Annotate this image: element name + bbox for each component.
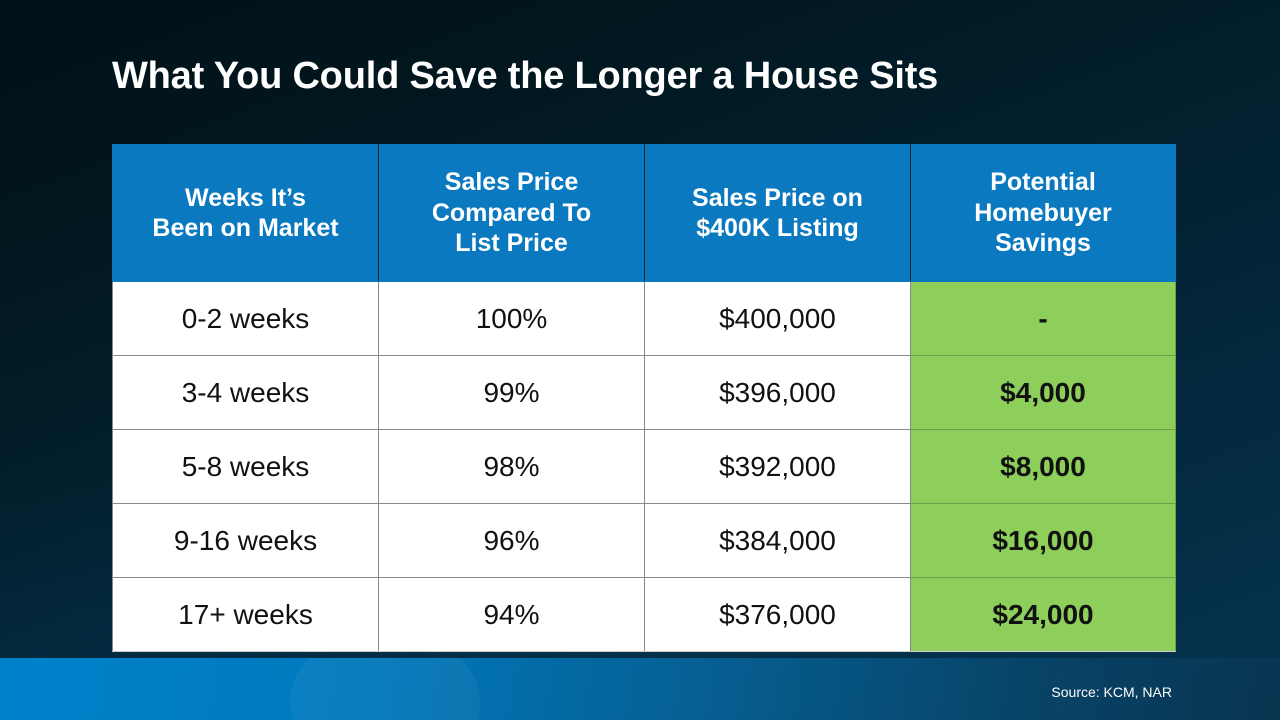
table-row: 3-4 weeks 99% $396,000 $4,000 [113,356,1176,430]
table-header-row: Weeks It’s Been on Market Sales Price Co… [113,145,1176,282]
cell-price: $392,000 [645,430,911,504]
page-title: What You Could Save the Longer a House S… [112,55,938,98]
cell-price: $376,000 [645,578,911,652]
cell-price: $396,000 [645,356,911,430]
cell-weeks: 3-4 weeks [113,356,379,430]
column-header-sales-price-400k: Sales Price on $400K Listing [645,145,911,282]
cell-savings: $16,000 [911,504,1176,578]
cell-savings: $4,000 [911,356,1176,430]
savings-table: Weeks It’s Been on Market Sales Price Co… [112,144,1176,652]
column-header-weeks-on-market: Weeks It’s Been on Market [113,145,379,282]
column-header-potential-savings: Potential Homebuyer Savings [911,145,1176,282]
header-line-3: Savings [995,229,1091,257]
column-header-sales-price-vs-list: Sales Price Compared To List Price [379,145,645,282]
savings-table-container: Weeks It’s Been on Market Sales Price Co… [112,144,1175,634]
table-row: 0-2 weeks 100% $400,000 - [113,282,1176,356]
header-line-1: Potential [990,168,1096,196]
cell-percent: 96% [379,504,645,578]
table-header: Weeks It’s Been on Market Sales Price Co… [113,145,1176,282]
header-line-2: Compared To [432,199,591,227]
cell-price: $384,000 [645,504,911,578]
header-line-3: List Price [455,229,568,257]
cell-savings: - [911,282,1176,356]
cell-savings: $24,000 [911,578,1176,652]
header-line-2: Been on Market [152,214,338,242]
header-line-1: Sales Price [445,168,578,196]
header-line-1: Sales Price on [692,184,863,212]
cell-price: $400,000 [645,282,911,356]
cell-percent: 100% [379,282,645,356]
header-line-1: Weeks It’s [185,184,306,212]
cell-percent: 99% [379,356,645,430]
table-row: 5-8 weeks 98% $392,000 $8,000 [113,430,1176,504]
cell-percent: 94% [379,578,645,652]
cell-percent: 98% [379,430,645,504]
header-line-2: Homebuyer [974,199,1112,227]
cell-weeks: 9-16 weeks [113,504,379,578]
slide-canvas: What You Could Save the Longer a House S… [0,0,1280,720]
table-body: 0-2 weeks 100% $400,000 - 3-4 weeks 99% … [113,282,1176,652]
cell-weeks: 17+ weeks [113,578,379,652]
table-row: 9-16 weeks 96% $384,000 $16,000 [113,504,1176,578]
source-attribution: Source: KCM, NAR [1051,684,1172,700]
table-row: 17+ weeks 94% $376,000 $24,000 [113,578,1176,652]
cell-savings: $8,000 [911,430,1176,504]
cell-weeks: 0-2 weeks [113,282,379,356]
header-line-2: $400K Listing [696,214,859,242]
cell-weeks: 5-8 weeks [113,430,379,504]
